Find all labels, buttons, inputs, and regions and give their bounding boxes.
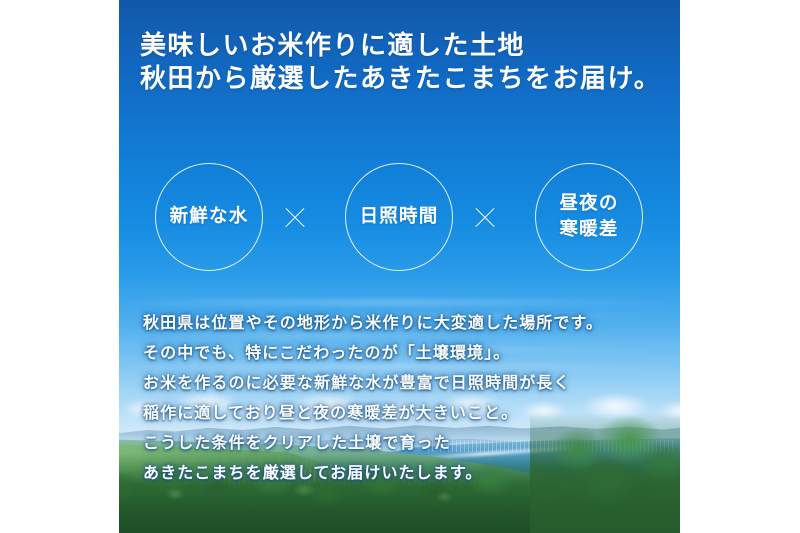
cirrus-cloud-streak [119,300,680,305]
body-copy-line-2: その中でも、特にこだわったのが「土壌環境」。 [143,338,663,368]
body-copy-line-6: あきたこまちを厳選してお届けいたします。 [143,458,663,488]
body-copy-block: 秋田県は位置やその地形から米作りに大変適した場所です。 その中でも、特にこだわっ… [143,308,663,488]
headline-line-2: 秋田から厳選したあきたこまちをお届け。 [140,63,660,96]
multiply-icon [472,204,498,230]
body-copy-line-5: こうした条件をクリアした土壌で育った [143,428,663,458]
factor-circle-fresh-water: 新鮮な水 [155,163,263,271]
multiply-icon [282,204,308,230]
body-copy-line-3: お米を作るのに必要な新鮮な水が豊富で日照時間が長く [143,368,663,398]
headline-block: 美味しいお米作りに適した土地 秋田から厳選したあきたこまちをお届け。 [140,30,660,96]
factor-label-sunshine-hours: 日照時間 [360,204,439,230]
factor-circles-row: 新鮮な水 日照時間 昼夜の 寒暖差 [119,163,680,273]
factor-circle-sunshine-hours: 日照時間 [345,163,453,271]
body-copy-line-1: 秋田県は位置やその地形から米作りに大変適した場所です。 [143,308,663,338]
factor-circle-temperature-range: 昼夜の 寒暖差 [535,163,643,271]
factor-label-temperature-range: 昼夜の 寒暖差 [559,191,618,243]
screenshot-canvas: 美味しいお米作りに適した土地 秋田から厳選したあきたこまちをお届け。 新鮮な水 … [0,0,800,533]
factor-label-fresh-water: 新鮮な水 [170,204,249,230]
headline-line-1: 美味しいお米作りに適した土地 [140,30,660,63]
rice-promo-banner: 美味しいお米作りに適した土地 秋田から厳選したあきたこまちをお届け。 新鮮な水 … [119,0,680,533]
body-copy-line-4: 稲作に適しており昼と夜の寒暖差が大きいこと。 [143,398,663,428]
